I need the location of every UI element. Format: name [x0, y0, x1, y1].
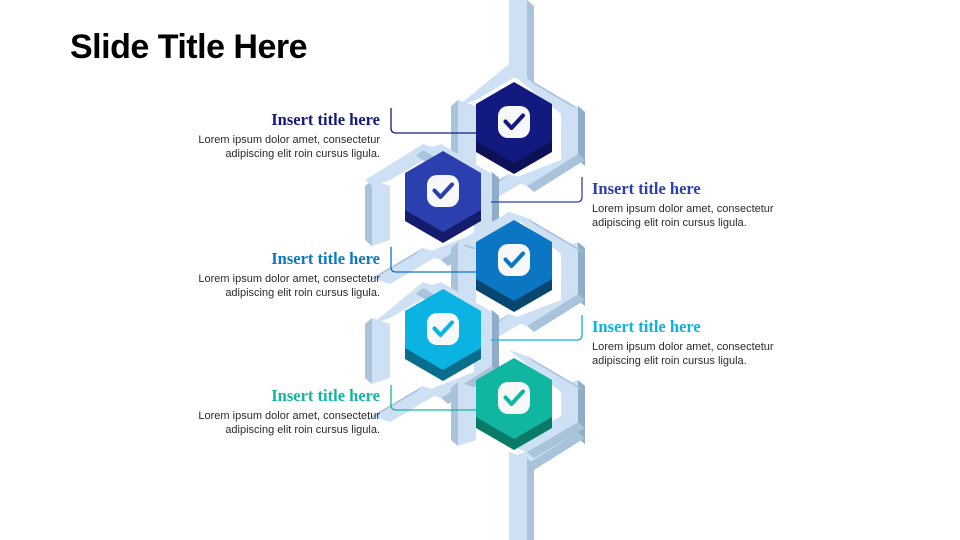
- step-title-2: Insert title here: [592, 179, 814, 200]
- process-nodes: [0, 0, 960, 540]
- connector-line-5: [391, 385, 476, 410]
- step-body-line-2: adipiscing elit roin cursus ligula.: [592, 354, 814, 369]
- step-text-block-1: Insert title here Lorem ipsum dolor amet…: [158, 110, 380, 162]
- step-body-line-2: adipiscing elit roin cursus ligula.: [158, 423, 380, 438]
- step-text-block-5: Insert title here Lorem ipsum dolor amet…: [158, 386, 380, 438]
- step-body-line-1: Lorem ipsum dolor amet, consectetur: [592, 202, 814, 217]
- page-title: Slide Title Here: [70, 28, 307, 67]
- step-title-1: Insert title here: [158, 110, 380, 131]
- connector-line-1: [391, 108, 476, 133]
- step-title-5: Insert title here: [158, 386, 380, 407]
- hex-node-4[interactable]: [405, 289, 481, 381]
- hex-node-3[interactable]: [476, 220, 552, 312]
- step-text-block-3: Insert title here Lorem ipsum dolor amet…: [158, 249, 380, 301]
- step-text-block-2: Insert title here Lorem ipsum dolor amet…: [592, 179, 814, 231]
- step-body-line-2: adipiscing elit roin cursus ligula.: [592, 216, 814, 231]
- step-title-3: Insert title here: [158, 249, 380, 270]
- connector-line-3: [391, 247, 476, 272]
- hex-node-5[interactable]: [476, 358, 552, 450]
- step-body-line-1: Lorem ipsum dolor amet, consectetur: [158, 272, 380, 287]
- hex-node-2[interactable]: [405, 151, 481, 243]
- step-text-block-4: Insert title here Lorem ipsum dolor amet…: [592, 317, 814, 369]
- step-body-3: Lorem ipsum dolor amet, consectetur adip…: [158, 272, 380, 302]
- step-body-line-1: Lorem ipsum dolor amet, consectetur: [592, 340, 814, 355]
- step-body-2: Lorem ipsum dolor amet, consectetur adip…: [592, 202, 814, 232]
- step-body-line-2: adipiscing elit roin cursus ligula.: [158, 286, 380, 301]
- hex-node-1[interactable]: [476, 82, 552, 174]
- connector-line-4: [491, 315, 582, 340]
- step-body-4: Lorem ipsum dolor amet, consectetur adip…: [592, 340, 814, 370]
- step-body-line-1: Lorem ipsum dolor amet, consectetur: [158, 133, 380, 148]
- step-body-line-1: Lorem ipsum dolor amet, consectetur: [158, 409, 380, 424]
- step-body-5: Lorem ipsum dolor amet, consectetur adip…: [158, 409, 380, 439]
- connector-line-2: [491, 177, 582, 202]
- step-body-line-2: adipiscing elit roin cursus ligula.: [158, 147, 380, 162]
- step-body-1: Lorem ipsum dolor amet, consectetur adip…: [158, 133, 380, 163]
- step-title-4: Insert title here: [592, 317, 814, 338]
- slide-canvas: Slide Title Here Insert title here Lorem…: [0, 0, 960, 540]
